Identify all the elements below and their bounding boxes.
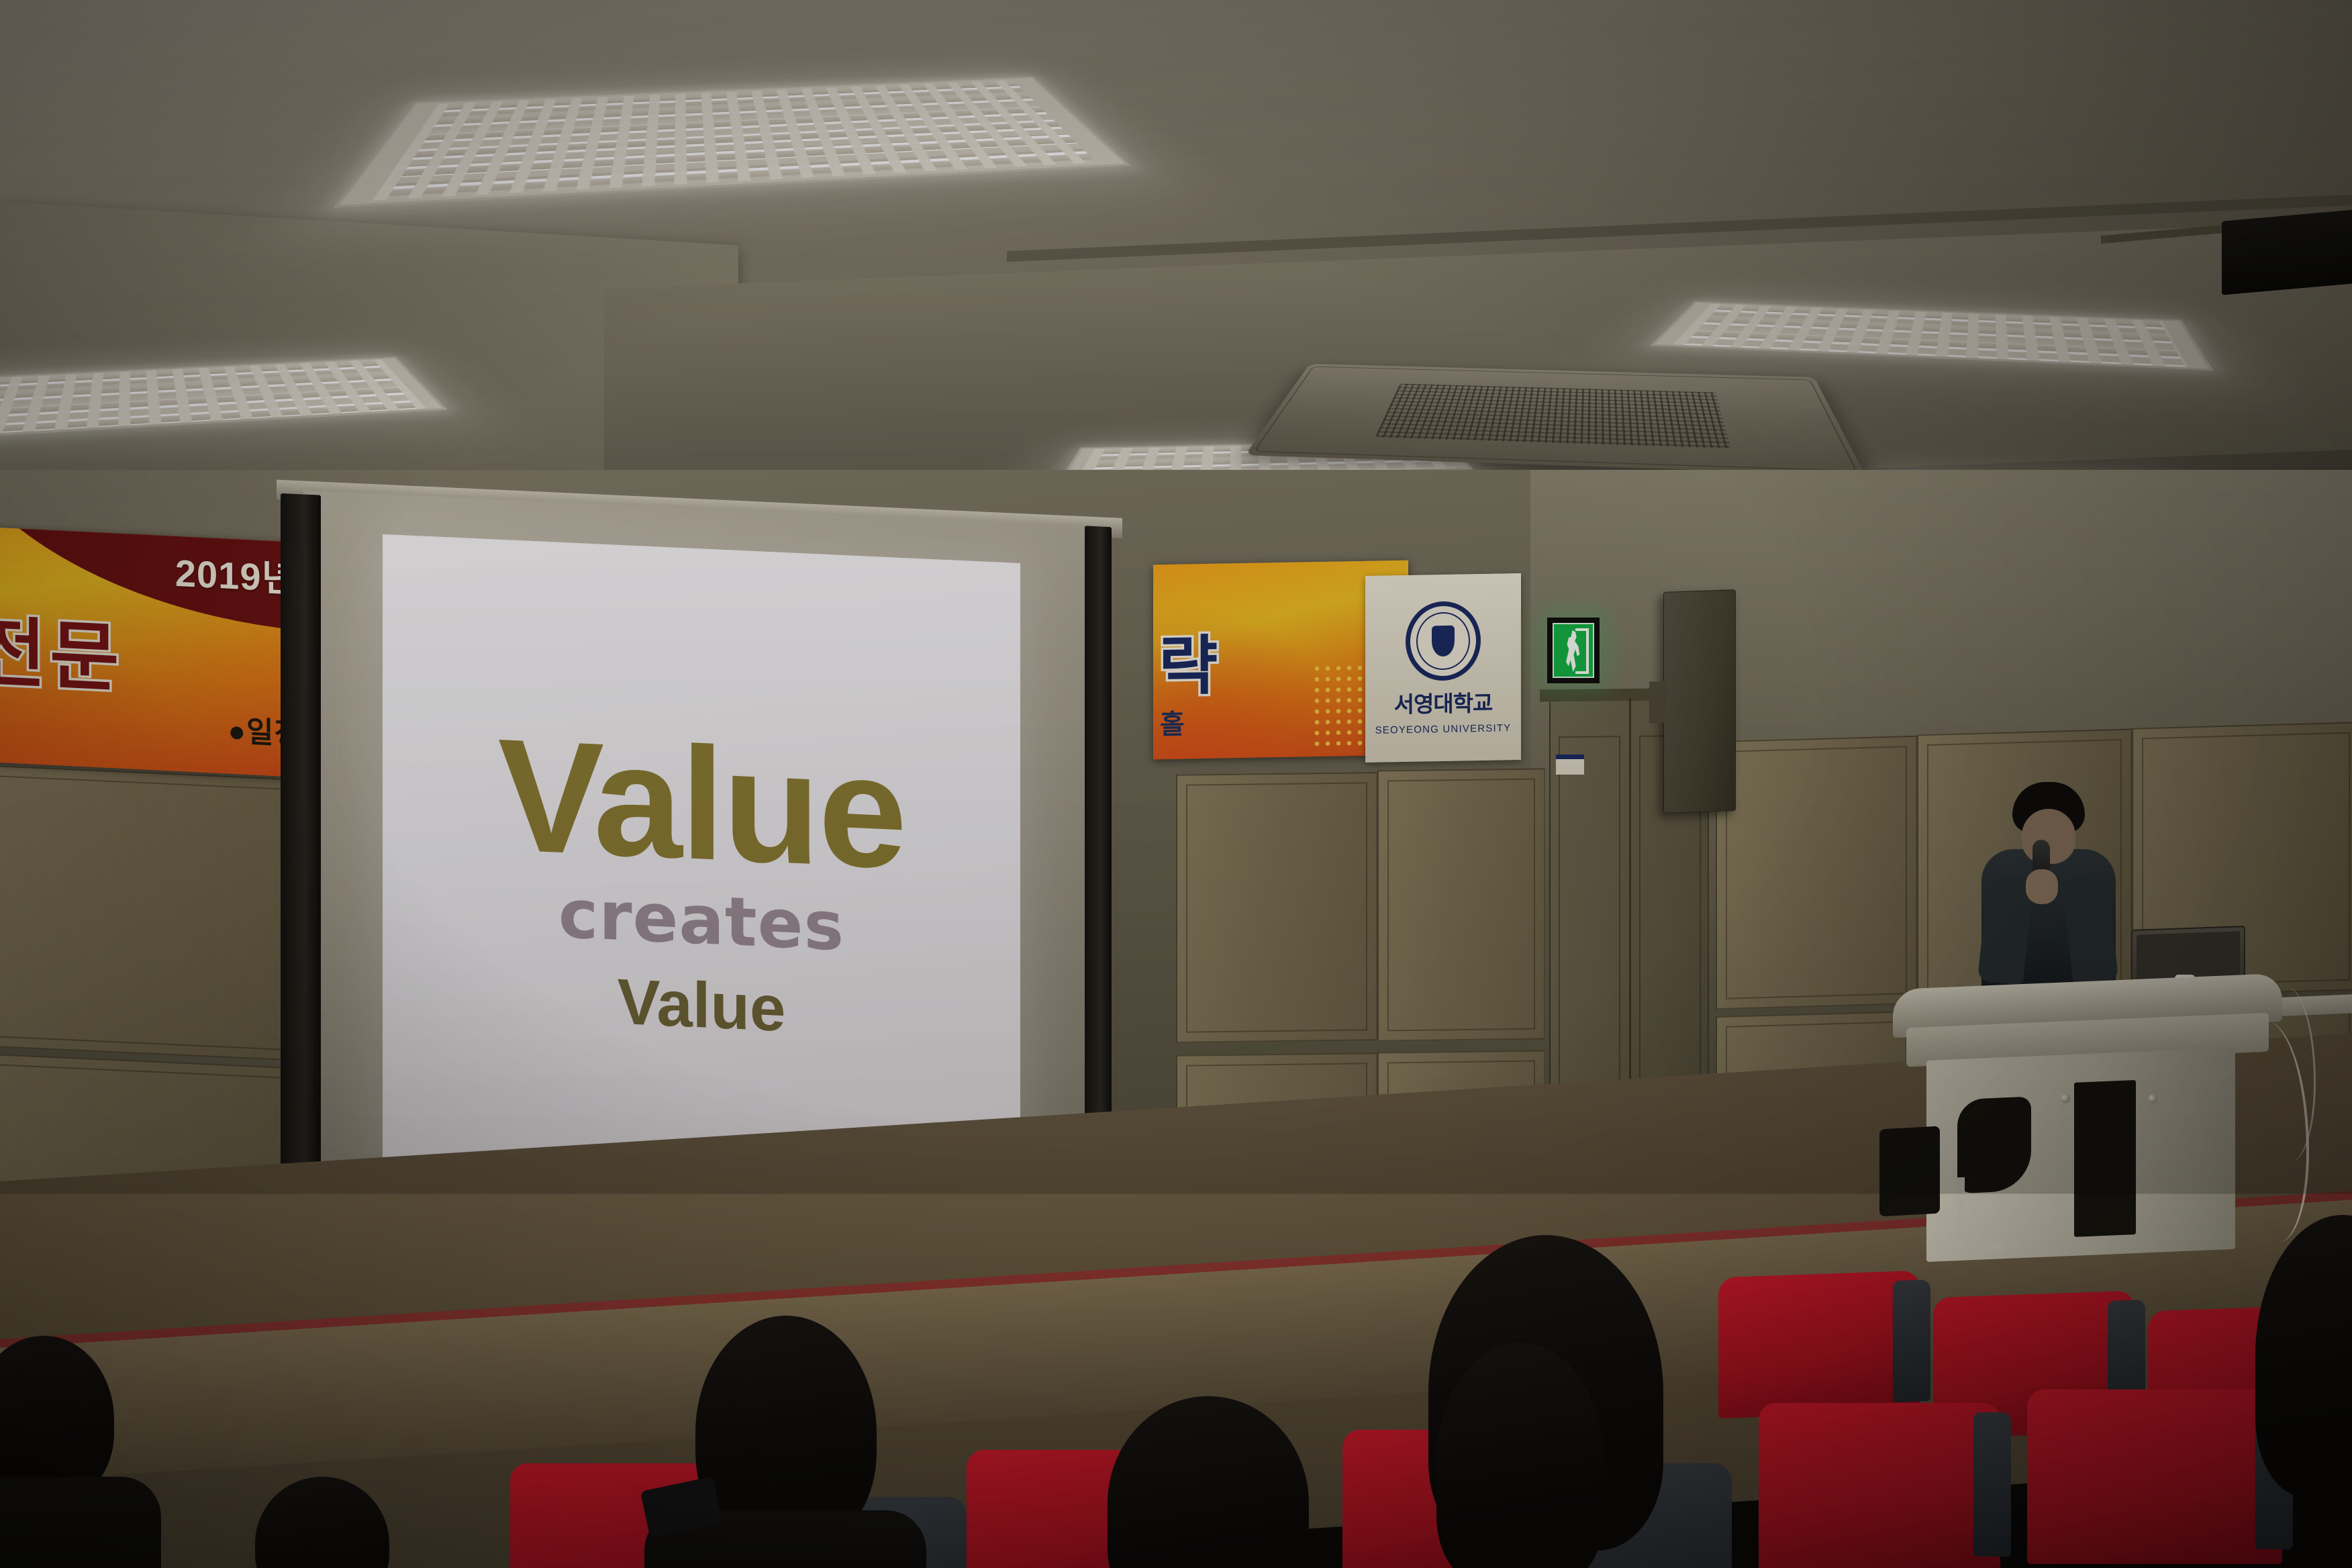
audience-shoulders xyxy=(0,1477,161,1568)
lectern-podium xyxy=(1920,975,2255,1257)
lecture-hall-photo: 2019년 치료 전문 명: 물리치료과 ●일정 략 홀 서영대학교 SEOYE… xyxy=(0,0,2352,1568)
wall-wood-panel xyxy=(0,765,302,1061)
auditorium-seat[interactable] xyxy=(1718,1271,1920,1418)
projection-screen-edge-left xyxy=(281,493,321,1267)
podium-dark-panel xyxy=(2074,1080,2136,1237)
wall-wood-panel xyxy=(1377,768,1545,1041)
emergency-exit-icon xyxy=(1547,618,1600,683)
ceiling-projector-box xyxy=(2222,208,2352,295)
university-name-english: SEOYEONG UNIVERSITY xyxy=(1375,722,1512,736)
slide-headline-value: Value xyxy=(498,722,905,888)
projected-slide: Value creates Value xyxy=(383,534,1020,1187)
university-seal-icon xyxy=(1406,601,1481,681)
wall-mounted-speaker xyxy=(1663,589,1736,814)
auditorium-seat[interactable] xyxy=(2027,1389,2282,1564)
auditorium-seat[interactable] xyxy=(1759,1403,2000,1568)
presenter-speaker xyxy=(1973,782,2121,1003)
bag-on-floor xyxy=(1879,1126,1940,1217)
presenter-hand xyxy=(2026,869,2058,904)
banner-left-headline: 치료 전문 xyxy=(0,583,123,707)
wall-wood-panel xyxy=(1176,772,1377,1043)
door-placard xyxy=(1556,754,1584,775)
university-plaque: 서영대학교 SEOYEONG UNIVERSITY xyxy=(1365,573,1521,763)
banner-left-year: 2019년 xyxy=(175,543,297,603)
wall-wood-panel xyxy=(1716,736,1917,1010)
university-name-korean: 서영대학교 xyxy=(1394,685,1493,719)
banner-left: 2019년 치료 전문 명: 물리치료과 ●일정 xyxy=(0,518,309,777)
slide-footline-value: Value xyxy=(498,953,905,1059)
